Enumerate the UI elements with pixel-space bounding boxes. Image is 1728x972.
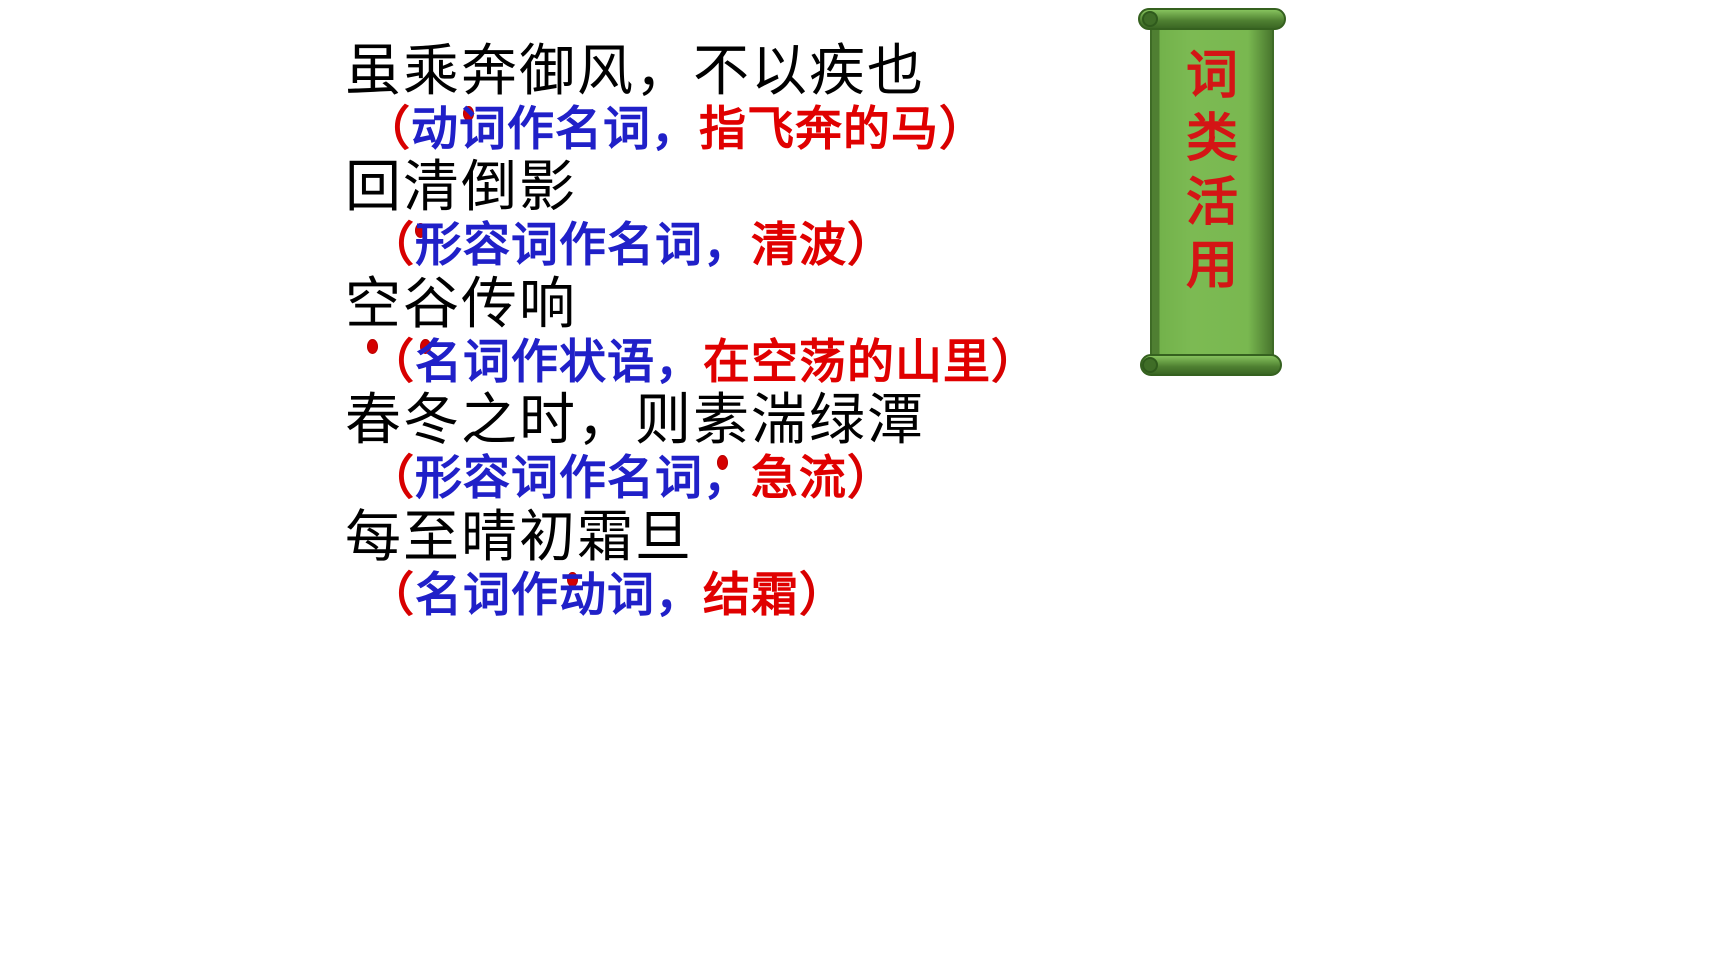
scroll-banner-title: 词 类 活 用	[1164, 44, 1260, 298]
scroll-title-char-2: 类	[1164, 107, 1260, 170]
gloss-text: 急流	[751, 451, 847, 506]
note-close-paren: ）	[847, 451, 895, 506]
scroll-title-char-3: 活	[1164, 171, 1260, 234]
note-line-3: （名词作状语，在空荡的山里）	[345, 337, 1175, 390]
lesson-content-column: 虽乘奔御风，不以疾也 （动词作名词，指飞奔的马） 回清倒影 （形容词作名词，清波…	[345, 40, 1175, 622]
scroll-rod-top	[1138, 8, 1286, 30]
quote-line-4: 春冬之时，则素湍绿潭	[345, 389, 1175, 453]
slide-canvas: 虽乘奔御风，不以疾也 （动词作名词，指飞奔的马） 回清倒影 （形容词作名词，清波…	[0, 0, 1728, 972]
note-open-paren: （	[367, 218, 415, 273]
grammar-label: 形容词作名词，	[415, 218, 751, 273]
quote-line-3: 空谷传响	[345, 273, 1175, 337]
note-open-paren: （	[367, 568, 415, 623]
grammar-label: 名词作状语，	[415, 335, 703, 390]
entry-group-2: 回清倒影 （形容词作名词，清波）	[345, 156, 1175, 272]
grammar-label: 形容词作名词，	[415, 451, 751, 506]
entry-group-3: 空谷传响 （名词作状语，在空荡的山里）	[345, 273, 1175, 389]
entry-group-1: 虽乘奔御风，不以疾也 （动词作名词，指飞奔的马）	[345, 40, 1175, 156]
note-close-paren: ）	[799, 568, 847, 623]
note-line-1: （动词作名词，指飞奔的马）	[345, 104, 1175, 157]
gloss-text: 指飞奔的马	[699, 102, 939, 157]
gloss-text: 在空荡的山里	[703, 335, 991, 390]
note-open-paren: （	[367, 335, 415, 390]
note-line-5: （名词作动词，结霜）	[345, 570, 1175, 623]
quote-line-1: 虽乘奔御风，不以疾也	[345, 40, 1175, 104]
note-close-paren: ）	[991, 335, 1039, 390]
entry-group-5: 每至晴初霜旦 （名词作动词，结霜）	[345, 506, 1175, 622]
scroll-rod-bottom	[1140, 354, 1282, 376]
scroll-banner: 词 类 活 用	[1138, 6, 1286, 374]
note-line-4: （形容词作名词，急流）	[345, 453, 1175, 506]
gloss-text: 结霜	[703, 568, 799, 623]
grammar-label: 名词作动词，	[415, 568, 703, 623]
note-close-paren: ）	[939, 102, 987, 157]
note-close-paren: ）	[847, 218, 895, 273]
quote-line-5: 每至晴初霜旦	[345, 506, 1175, 570]
scroll-title-char-1: 词	[1164, 44, 1260, 107]
gloss-text: 清波	[751, 218, 847, 273]
note-line-2: （形容词作名词，清波）	[345, 220, 1175, 273]
grammar-label: 动词作名词，	[411, 102, 699, 157]
scroll-title-char-4: 用	[1164, 234, 1260, 297]
quote-line-2: 回清倒影	[345, 156, 1175, 220]
scroll-knob-bottom-left	[1142, 357, 1158, 373]
entry-group-4: 春冬之时，则素湍绿潭 （形容词作名词，急流）	[345, 389, 1175, 505]
note-open-paren: （	[367, 451, 415, 506]
note-open-paren: （	[363, 102, 411, 157]
scroll-knob-top-left	[1142, 11, 1158, 27]
